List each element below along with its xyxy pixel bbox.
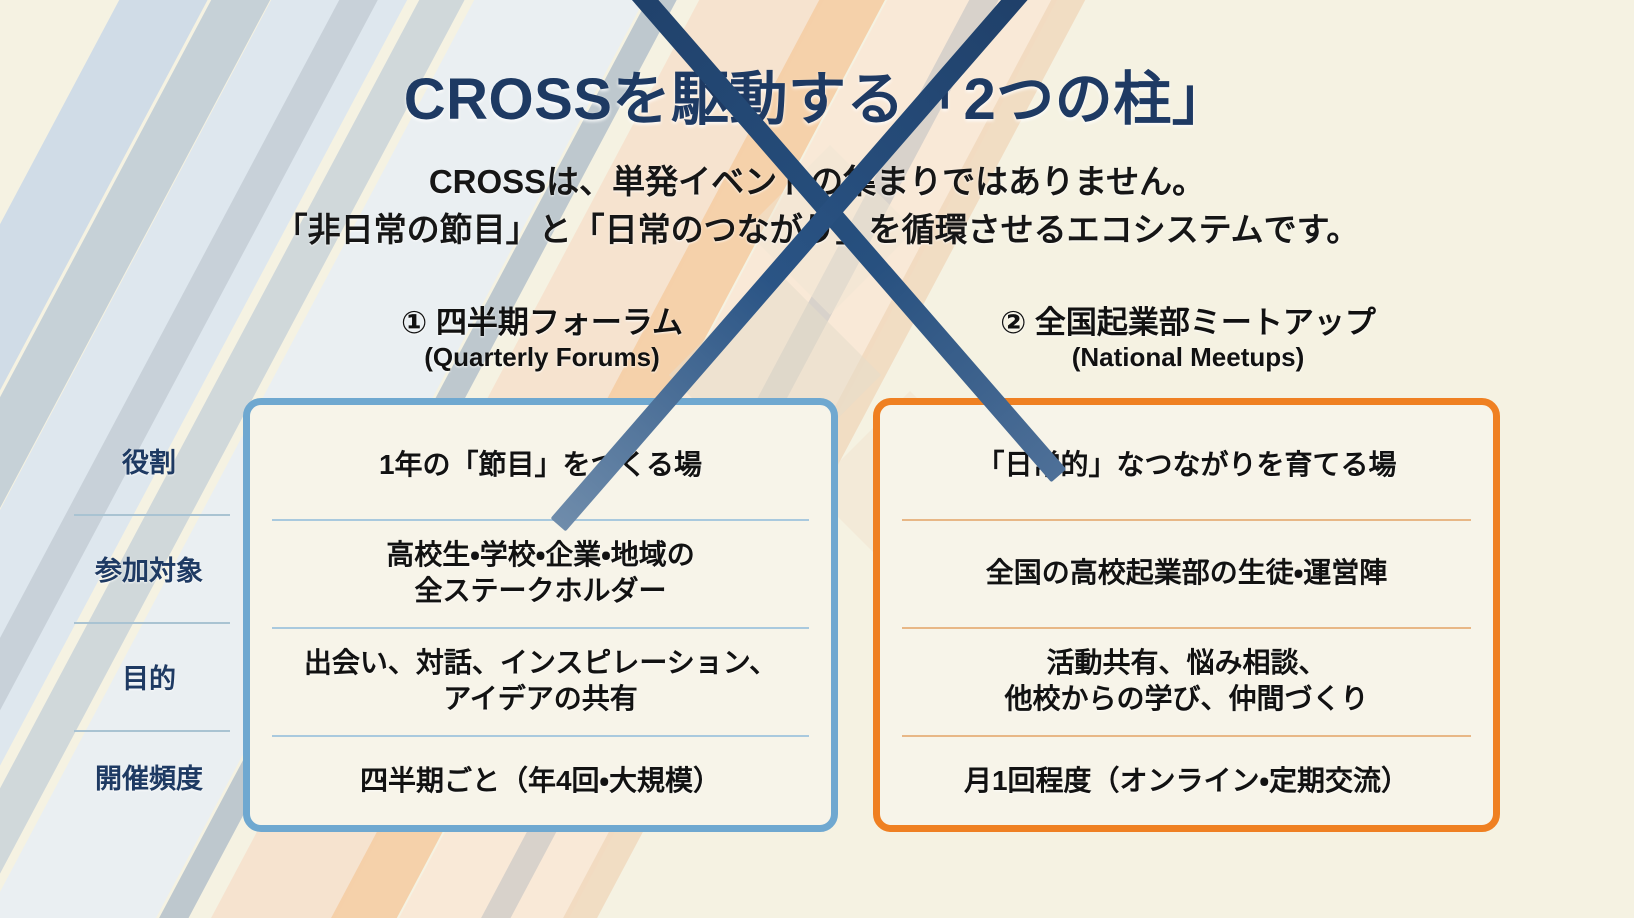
column-header-national-meetups: ② 全国起業部ミートアップ (National Meetups) — [876, 305, 1500, 373]
slide-title: CROSSを駆動する「2つの柱」 — [0, 52, 1634, 136]
card-national-meetups[interactable]: 「日常的」なつながりを育てる場 全国の高校起業部の生徒・運営陣 活動共有、悩み相… — [873, 398, 1500, 832]
column-header-en-left: (Quarterly Forums) — [246, 342, 838, 373]
row-label-purpose: 目的 — [60, 622, 238, 730]
cell-left-frequency-line-1: 四半期ごと（年4回・大規模） — [360, 763, 721, 799]
cell-left-role-line-1: 1年の「節目」をつくる場 — [379, 447, 702, 483]
cell-left-purpose-line-2: アイデアの共有 — [304, 681, 777, 717]
cell-right-purpose-line-2: 他校からの学び、仲間づくり — [1004, 681, 1368, 717]
row-label-column: 役割 参加対象 目的 開催頻度 — [60, 400, 238, 832]
cell-left-audience: 高校生・学校・企業・地域の 全ステークホルダー — [250, 519, 831, 627]
cell-right-purpose: 活動共有、悩み相談、 他校からの学び、仲間づくり — [880, 627, 1493, 735]
cell-right-frequency-line-1: 月1回程度（オンライン・定期交流） — [964, 763, 1409, 799]
cell-left-role: 1年の「節目」をつくる場 — [250, 411, 831, 519]
row-label-frequency: 開催頻度 — [60, 730, 238, 822]
column-header-quarterly-forums: ① 四半期フォーラム (Quarterly Forums) — [246, 305, 838, 373]
cell-right-role-line-1: 「日常的」なつながりを育てる場 — [976, 447, 1396, 483]
cell-left-purpose: 出会い、対話、インスピレーション、 アイデアの共有 — [250, 627, 831, 735]
cell-right-audience: 全国の高校起業部の生徒・運営陣 — [880, 519, 1493, 627]
row-label-role: 役割 — [60, 406, 238, 514]
row-label-audience: 参加対象 — [60, 514, 238, 622]
cell-right-audience-line-1: 全国の高校起業部の生徒・運営陣 — [986, 555, 1388, 591]
cell-left-audience-line-1: 高校生・学校・企業・地域の — [386, 537, 695, 573]
card-quarterly-forums[interactable]: 1年の「節目」をつくる場 高校生・学校・企業・地域の 全ステークホルダー 出会い… — [243, 398, 838, 832]
column-header-jp-right: ② 全国起業部ミートアップ — [876, 305, 1500, 342]
cell-left-frequency: 四半期ごと（年4回・大規模） — [250, 735, 831, 827]
slide-canvas: CROSSを駆動する「2つの柱」 CROSSは、単発イベントの集まりではありませ… — [0, 0, 1634, 918]
cell-left-audience-line-2: 全ステークホルダー — [386, 573, 695, 609]
cell-left-purpose-line-1: 出会い、対話、インスピレーション、 — [304, 645, 777, 681]
card-right-inner: 「日常的」なつながりを育てる場 全国の高校起業部の生徒・運営陣 活動共有、悩み相… — [880, 405, 1493, 825]
card-left-inner: 1年の「節目」をつくる場 高校生・学校・企業・地域の 全ステークホルダー 出会い… — [250, 405, 831, 825]
subtitle-line-1: CROSSは、単発イベントの集まりではありません。 — [429, 163, 1205, 200]
column-header-en-right: (National Meetups) — [876, 342, 1500, 373]
cell-right-frequency: 月1回程度（オンライン・定期交流） — [880, 735, 1493, 827]
slide-subtitle: CROSSは、単発イベントの集まりではありません。 「非日常の節目」と「日常のつ… — [0, 158, 1634, 254]
subtitle-line-2: 「非日常の節目」と「日常のつながり」を循環させるエコシステムです。 — [0, 206, 1634, 254]
column-header-jp-left: ① 四半期フォーラム — [246, 305, 838, 342]
cell-right-role: 「日常的」なつながりを育てる場 — [880, 411, 1493, 519]
cell-right-purpose-line-1: 活動共有、悩み相談、 — [1004, 645, 1368, 681]
